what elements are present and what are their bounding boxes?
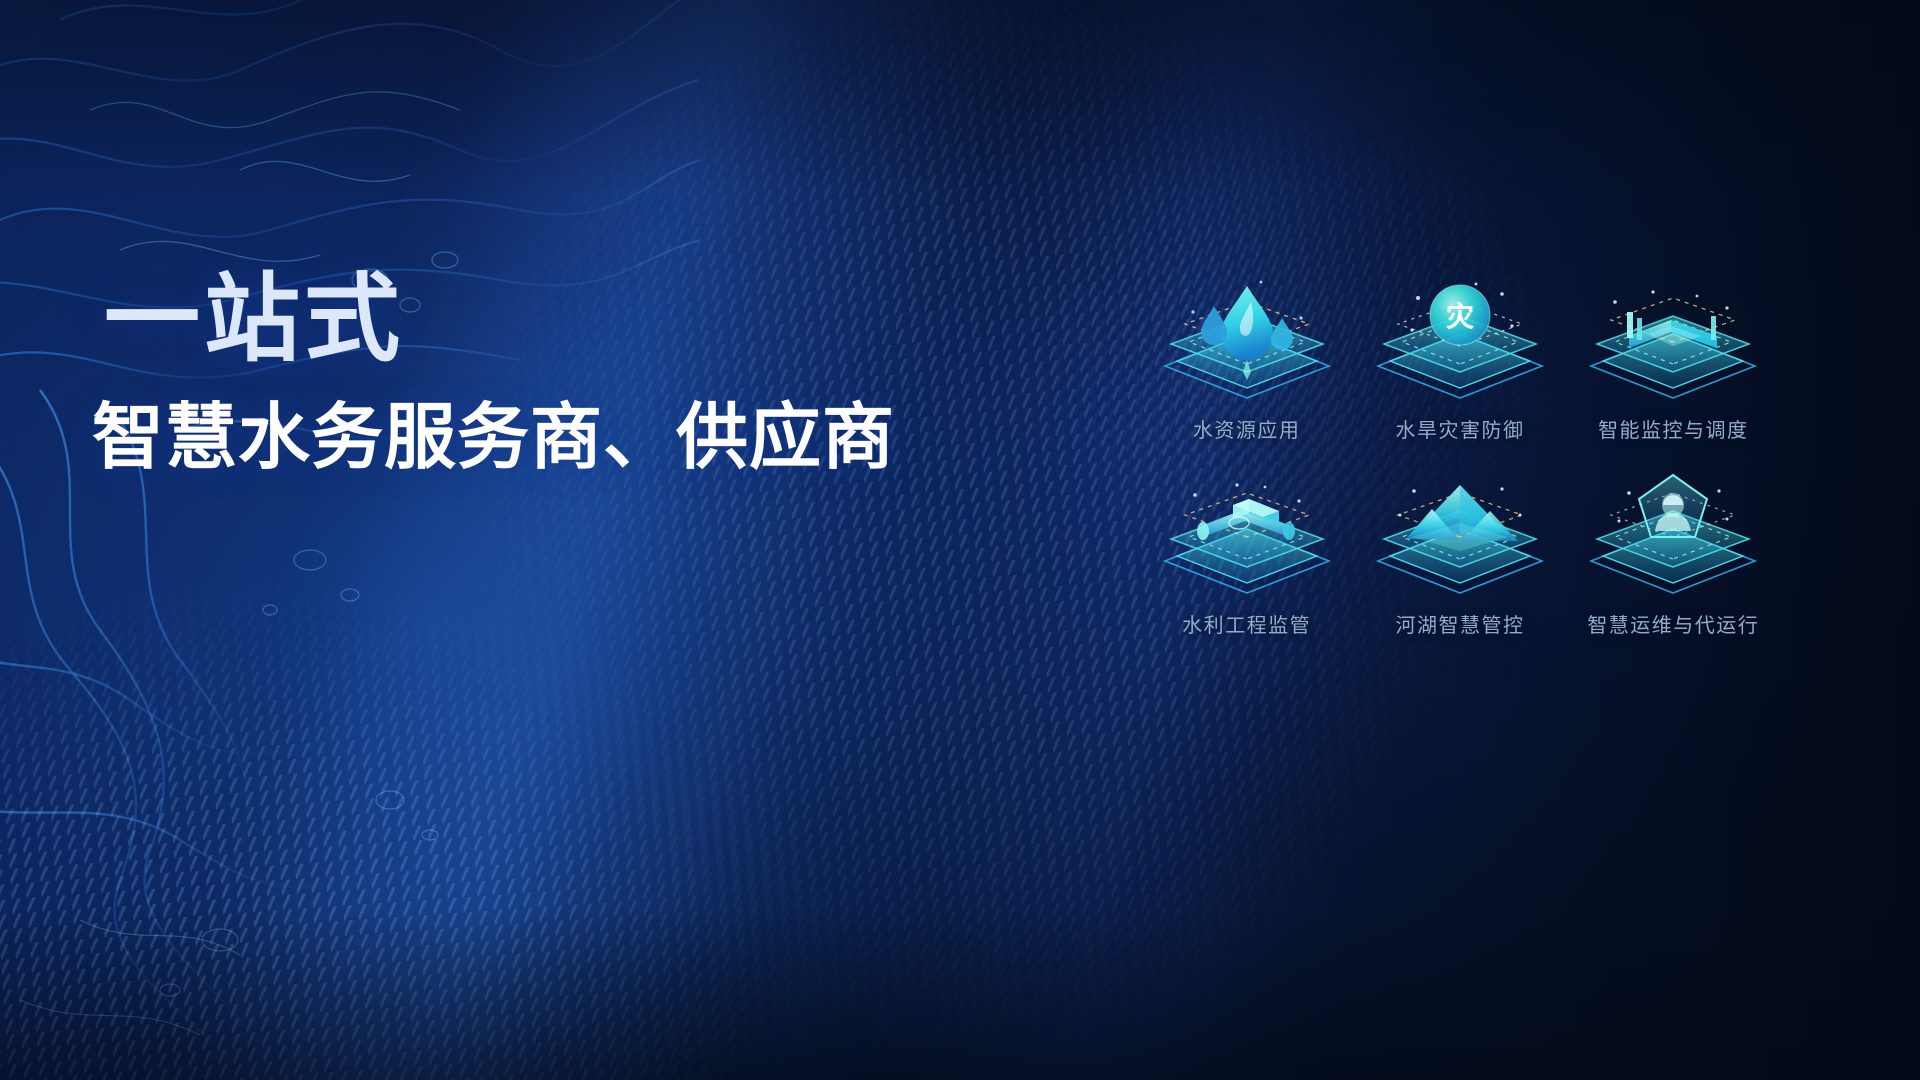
slide-canvas: 一站式 智慧水务服务商、供应商: [0, 0, 1920, 1080]
light-sweep-band: [114, 0, 1066, 1080]
feature-label: 水利工程监管: [1182, 609, 1311, 638]
feature-label: 河湖智慧管控: [1395, 609, 1524, 638]
feature-item-smart-ops-hosting[interactable]: 智慧运维与代运行: [1567, 463, 1780, 638]
disaster-sphere-icon: 灾: [1354, 268, 1566, 418]
feature-label: 水资源应用: [1193, 414, 1301, 443]
feature-grid: 水资源应用: [1140, 268, 1780, 638]
headline-block: 一站式 智慧水务服务商、供应商: [104, 272, 895, 474]
feature-item-water-resource[interactable]: 水资源应用: [1140, 268, 1353, 443]
mountain-river-icon: [1354, 463, 1566, 613]
disaster-character: 灾: [1446, 300, 1474, 332]
dam-monitor-icon: [1567, 268, 1779, 418]
feature-item-flood-drought-defense[interactable]: 灾 水旱灾害防御: [1353, 268, 1566, 443]
feature-label: 智慧运维与代运行: [1587, 609, 1759, 638]
feature-item-smart-monitoring-dispatch[interactable]: 智能监控与调度: [1567, 268, 1780, 443]
feature-label: 水旱灾害防御: [1395, 414, 1524, 443]
page-title: 一站式: [104, 272, 895, 368]
page-subtitle: 智慧水务服务商、供应商: [92, 402, 895, 474]
water-flow-texture-bottom: [0, 380, 620, 1080]
diagonal-mesh-texture-lower-left: [0, 437, 1075, 1080]
feature-item-water-engineering-supervision[interactable]: 水利工程监管: [1140, 463, 1353, 638]
water-drop-icon: [1141, 268, 1353, 418]
feature-item-river-lake-control[interactable]: 河湖智慧管控: [1353, 463, 1566, 638]
pipeline-icon: [1141, 463, 1353, 613]
feature-label: 智能监控与调度: [1598, 414, 1749, 443]
shield-ops-icon: [1567, 463, 1779, 613]
